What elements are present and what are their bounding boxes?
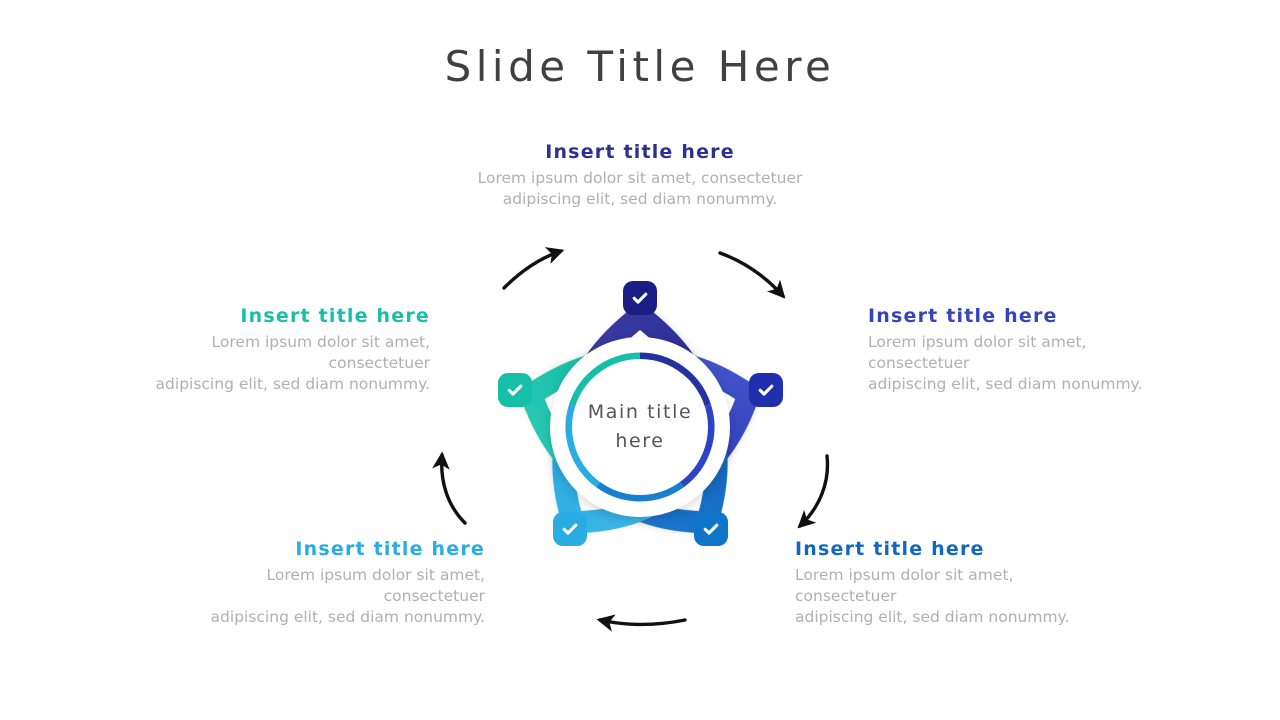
segment-text-right: Insert title here Lorem ipsum dolor sit …: [868, 305, 1188, 395]
check-icon: [756, 380, 776, 400]
segment-body-right-line1: Lorem ipsum dolor sit amet, consectetuer: [868, 333, 1086, 372]
petal-right-check-badge[interactable]: [749, 373, 783, 407]
segment-body-bottom-right-line2: adipiscing elit, sed diam nonummy.: [795, 608, 1069, 626]
segment-body-left-line1: Lorem ipsum dolor sit amet, consectetuer: [212, 333, 430, 372]
center-label-line1: Main title: [588, 401, 693, 423]
segment-body-bottom-left: Lorem ipsum dolor sit amet, consectetuer…: [165, 565, 485, 628]
segment-body-bottom-left-line1: Lorem ipsum dolor sit amet, consectetuer: [267, 566, 485, 605]
segment-title-top: Insert title here: [440, 141, 840, 165]
segment-text-left: Insert title here Lorem ipsum dolor sit …: [110, 305, 430, 395]
center-label: Main title here: [588, 398, 693, 457]
segment-body-top-line2: adipiscing elit, sed diam nonummy.: [503, 190, 777, 208]
slide-canvas: Slide Title Here: [0, 0, 1280, 720]
check-icon: [630, 288, 650, 308]
center-hub[interactable]: Main title here: [550, 337, 730, 517]
center-inner-disc: Main title here: [572, 359, 708, 495]
petal-bottom-left-check-badge[interactable]: [553, 512, 587, 546]
segment-body-right-line2: adipiscing elit, sed diam nonummy.: [868, 375, 1142, 393]
segment-title-bottom-left: Insert title here: [165, 538, 485, 562]
petal-top-check-badge[interactable]: [623, 281, 657, 315]
segment-text-bottom-left: Insert title here Lorem ipsum dolor sit …: [165, 538, 485, 628]
segment-body-left-line2: adipiscing elit, sed diam nonummy.: [156, 375, 430, 393]
segment-title-left: Insert title here: [110, 305, 430, 329]
segment-body-bottom-left-line2: adipiscing elit, sed diam nonummy.: [211, 608, 485, 626]
check-icon: [701, 519, 721, 539]
segment-body-bottom-right: Lorem ipsum dolor sit amet, consectetuer…: [795, 565, 1115, 628]
segment-text-bottom-right: Insert title here Lorem ipsum dolor sit …: [795, 538, 1115, 628]
segment-body-right: Lorem ipsum dolor sit amet, consectetuer…: [868, 332, 1188, 395]
segment-title-bottom-right: Insert title here: [795, 538, 1115, 562]
segment-text-top: Insert title here Lorem ipsum dolor sit …: [440, 141, 840, 210]
segment-title-right: Insert title here: [868, 305, 1188, 329]
check-icon: [560, 519, 580, 539]
page-title: Slide Title Here: [0, 42, 1280, 91]
center-label-line2: here: [615, 430, 664, 452]
petal-bottom-right-check-badge[interactable]: [694, 512, 728, 546]
check-icon: [505, 380, 525, 400]
segment-body-left: Lorem ipsum dolor sit amet, consectetuer…: [110, 332, 430, 395]
petal-left-check-badge[interactable]: [498, 373, 532, 407]
segment-body-top-line1: Lorem ipsum dolor sit amet, consectetuer: [478, 169, 803, 187]
segment-body-bottom-right-line1: Lorem ipsum dolor sit amet, consectetuer: [795, 566, 1013, 605]
segment-body-top: Lorem ipsum dolor sit amet, consectetuer…: [440, 168, 840, 210]
